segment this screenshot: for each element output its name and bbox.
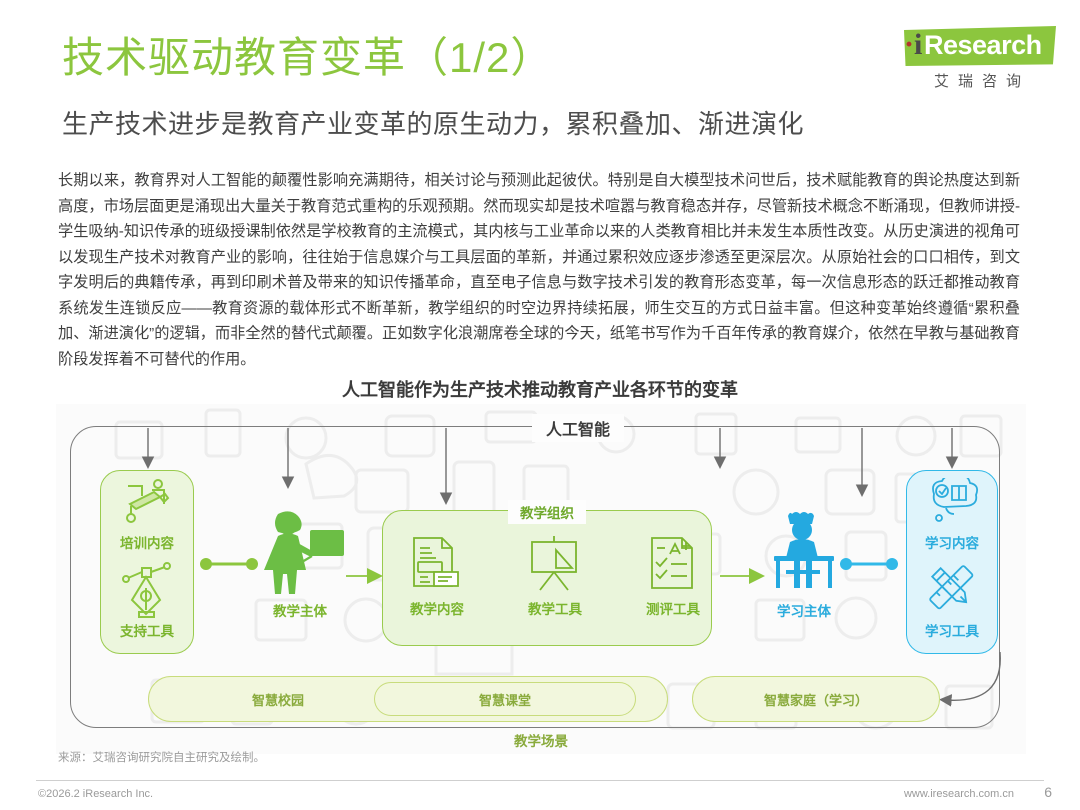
label-learning-content: 学习内容 bbox=[906, 532, 998, 552]
pen-nib-icon bbox=[120, 562, 174, 625]
scenario-smart-classroom: 智慧课堂 bbox=[374, 682, 636, 716]
footer-divider bbox=[36, 780, 1044, 781]
label-assessment-tools: 测评工具 bbox=[618, 598, 728, 618]
logo-chinese-name: 艾瑞咨询 bbox=[912, 70, 1052, 91]
label-teaching-tools: 教学工具 bbox=[500, 598, 610, 618]
label-teaching-content: 教学内容 bbox=[382, 598, 492, 618]
footer-page-number: 6 bbox=[1044, 784, 1052, 800]
label-learning-subject: 学习主体 bbox=[750, 600, 858, 620]
pencil-ruler-icon bbox=[118, 476, 176, 533]
pencil-ruler-cross-icon bbox=[922, 560, 982, 623]
diagram-title: 人工智能作为生产技术推动教育产业各环节的变革 bbox=[0, 376, 1080, 402]
teacher-icon bbox=[252, 508, 348, 601]
logo-wordmark: Research bbox=[924, 29, 1042, 61]
logo-mark: ·i Research bbox=[882, 24, 1058, 68]
label-learning-tools: 学习工具 bbox=[906, 620, 998, 640]
label-support-tools: 支持工具 bbox=[100, 620, 194, 640]
scenario-smart-campus-label: 智慧校园 bbox=[198, 690, 358, 709]
footer-copyright: ©2026.2 iResearch Inc. bbox=[38, 788, 153, 800]
label-teaching-subject: 教学主体 bbox=[246, 600, 354, 620]
page-subtitle: 生产技术进步是教育产业变革的原生动力，累积叠加、渐进演化 bbox=[62, 104, 804, 141]
logo-letter-i: ·i bbox=[904, 30, 922, 60]
student-desk-icon bbox=[756, 510, 852, 599]
education-value-chain-diagram: 人工智能 bbox=[56, 404, 1026, 754]
source-note: 来源：艾瑞咨询研究院自主研究及绘制。 bbox=[58, 749, 265, 765]
label-training-content: 培训内容 bbox=[100, 532, 194, 552]
thought-book-icon bbox=[922, 478, 984, 539]
ai-root-label: 人工智能 bbox=[532, 414, 624, 442]
scenario-group-label: 教学场景 bbox=[56, 730, 1026, 750]
label-teaching-organization-group: 教学组织 bbox=[508, 500, 586, 524]
page-title: 技术驱动教育变革（1/2） bbox=[62, 34, 553, 82]
document-icon bbox=[404, 534, 468, 599]
footer-website: www.iresearch.com.cn bbox=[904, 788, 1014, 800]
whiteboard-icon bbox=[522, 534, 586, 599]
body-paragraph: 长期以来，教育界对人工智能的颠覆性影响充满期待，相关讨论与预测此起彼伏。特别是自… bbox=[58, 168, 1020, 372]
checklist-icon bbox=[642, 534, 704, 599]
slide-page: ·i Research 艾瑞咨询 技术驱动教育变革（1/2） 生产技术进步是教育… bbox=[0, 0, 1080, 810]
logo-i-dot: · bbox=[904, 28, 914, 61]
scenario-smart-home: 智慧家庭（学习） bbox=[692, 676, 940, 722]
iresearch-logo: ·i Research 艾瑞咨询 bbox=[882, 24, 1058, 94]
logo-i-text: i bbox=[914, 28, 922, 61]
